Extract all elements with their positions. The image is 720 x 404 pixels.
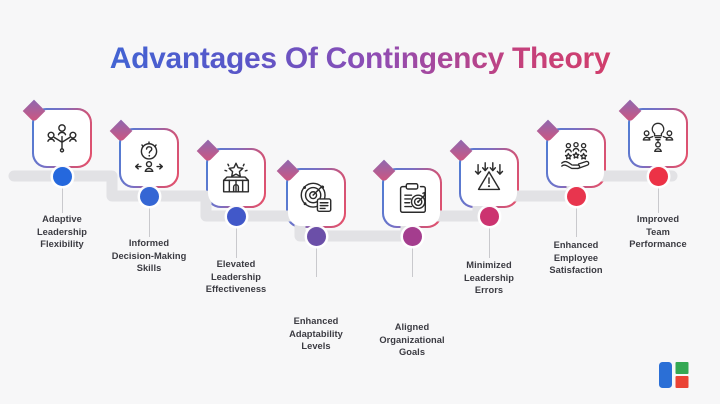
infographic-canvas: Advantages Of Contingency Theory Adaptiv… — [0, 0, 720, 404]
node-dot[interactable] — [403, 227, 422, 246]
warning-down-arrows-icon — [470, 159, 508, 197]
node-label: Elevated Leadership Effectiveness — [183, 258, 289, 296]
node-dot[interactable] — [227, 207, 246, 226]
hand-people-stars-icon — [557, 139, 595, 177]
icon-card — [384, 170, 440, 226]
lightbulb-team-icon — [639, 119, 677, 157]
network-people-icon — [43, 119, 81, 157]
icon-card — [34, 110, 90, 166]
node-stem — [489, 225, 490, 258]
node-stem — [576, 205, 577, 237]
node-dot[interactable] — [567, 187, 586, 206]
node-stem — [236, 225, 237, 258]
star-podium-icon — [217, 159, 255, 197]
node-stem — [149, 205, 150, 237]
question-decision-icon — [130, 139, 168, 177]
node-dot[interactable] — [649, 167, 668, 186]
node-dot[interactable] — [140, 187, 159, 206]
icon-card — [461, 150, 517, 206]
node-stem — [412, 245, 413, 277]
node-label: Aligned Organizational Goals — [357, 321, 467, 359]
brand-logo — [658, 360, 692, 390]
target-adapt-icon — [297, 179, 335, 217]
node-label: Improved Team Performance — [605, 213, 711, 251]
icon-card — [208, 150, 264, 206]
icon-card — [288, 170, 344, 226]
node-stem — [62, 185, 63, 213]
icon-card — [121, 130, 177, 186]
icon-card — [548, 130, 604, 186]
node-dot[interactable] — [480, 207, 499, 226]
node-stem — [658, 185, 659, 213]
node-dot[interactable] — [307, 227, 326, 246]
node-label: Enhanced Adaptability Levels — [263, 315, 369, 353]
node-stem — [316, 245, 317, 277]
icon-card — [630, 110, 686, 166]
clipboard-target-icon — [393, 179, 431, 217]
node-dot[interactable] — [53, 167, 72, 186]
